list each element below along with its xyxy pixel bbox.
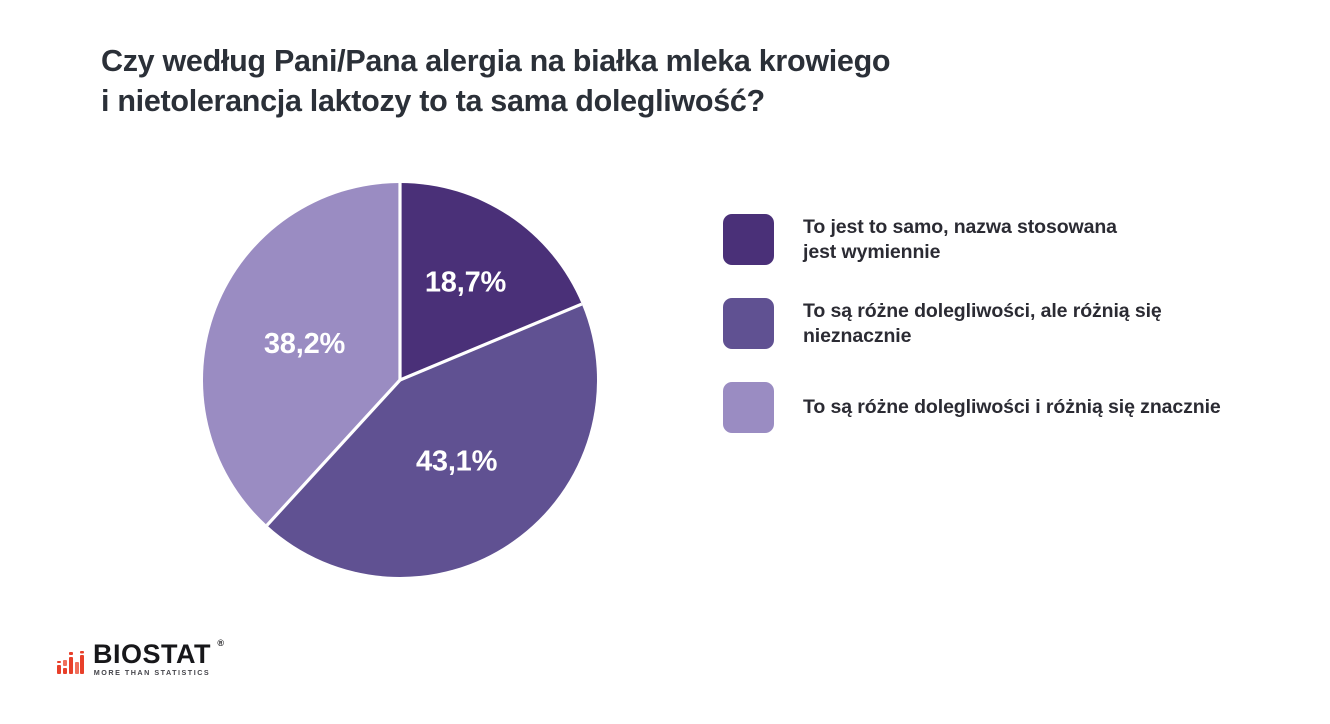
chart-legend: To jest to samo, nazwa stosowana jest wy… bbox=[723, 214, 1313, 466]
logo-tagline: MORE THAN STATISTICS bbox=[93, 668, 211, 677]
legend-item[interactable]: To jest to samo, nazwa stosowana jest wy… bbox=[723, 214, 1313, 265]
legend-swatch bbox=[723, 298, 774, 349]
legend-swatch bbox=[723, 382, 774, 433]
legend-label: To jest to samo, nazwa stosowana jest wy… bbox=[803, 214, 1117, 265]
page-title: Czy według Pani/Pana alergia na białka m… bbox=[101, 41, 1101, 121]
logo-wordmark: BIOSTAT bbox=[93, 641, 211, 667]
legend-item[interactable]: To są różne dolegliwości, ale różnią się… bbox=[723, 298, 1313, 349]
pie-slice-label-3: 38,2% bbox=[264, 328, 346, 360]
pie-chart-svg: 18,7% 43,1% 38,2% bbox=[202, 182, 598, 578]
biostat-logo: BIOSTAT ® MORE THAN STATISTICS bbox=[57, 641, 211, 677]
registered-trademark-icon: ® bbox=[217, 638, 224, 648]
legend-label: To są różne dolegliwości, ale różnią się… bbox=[803, 298, 1162, 349]
bar-chart-icon bbox=[57, 651, 84, 677]
legend-swatch bbox=[723, 214, 774, 265]
legend-label: To są różne dolegliwości i różnią się zn… bbox=[803, 382, 1221, 420]
pie-slice-label-1: 18,7% bbox=[425, 267, 507, 299]
pie-chart: 18,7% 43,1% 38,2% bbox=[202, 182, 598, 578]
logo-text-block: BIOSTAT ® MORE THAN STATISTICS bbox=[93, 641, 211, 677]
pie-slice-label-2: 43,1% bbox=[416, 446, 498, 478]
legend-item[interactable]: To są różne dolegliwości i różnią się zn… bbox=[723, 382, 1313, 433]
